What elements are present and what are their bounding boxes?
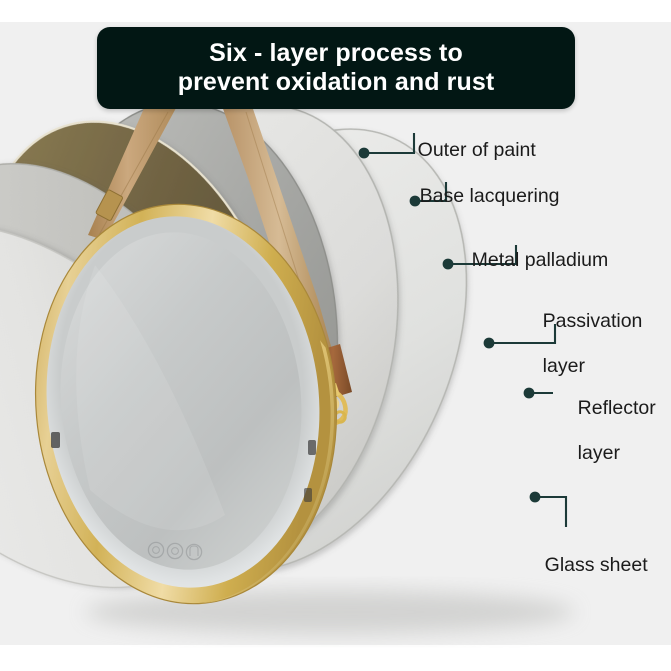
title-text: Six - layer process to prevent oxidation…	[168, 39, 505, 98]
label-reflector-layer-line-2: layer	[578, 442, 620, 464]
label-outer-of-paint-line-1: Outer of paint	[418, 139, 536, 161]
label-base-lacquering: Base lacquering	[398, 163, 560, 230]
title-banner: Six - layer process to prevent oxidation…	[97, 27, 575, 109]
label-reflector-layer-line-1: Reflector	[578, 397, 656, 419]
leader-glass-sheet	[530, 492, 566, 527]
infographic-canvas: Six - layer process to prevent oxidation…	[0, 0, 671, 671]
label-glass-sheet: Glass sheet	[523, 532, 648, 599]
label-passivation-layer-line-1: Passivation	[543, 310, 643, 332]
label-metal-palladium: Metal palladium	[450, 227, 608, 294]
label-glass-sheet-line-1: Glass sheet	[545, 554, 648, 576]
title-line-1: Six - layer process to	[209, 39, 463, 67]
label-metal-palladium-line-1: Metal palladium	[472, 249, 609, 271]
label-passivation-layer-line-2: layer	[543, 355, 585, 377]
title-line-2: prevent oxidation and rust	[178, 68, 495, 96]
label-reflector-layer: Reflector layer	[556, 375, 656, 486]
label-base-lacquering-line-1: Base lacquering	[420, 185, 560, 207]
